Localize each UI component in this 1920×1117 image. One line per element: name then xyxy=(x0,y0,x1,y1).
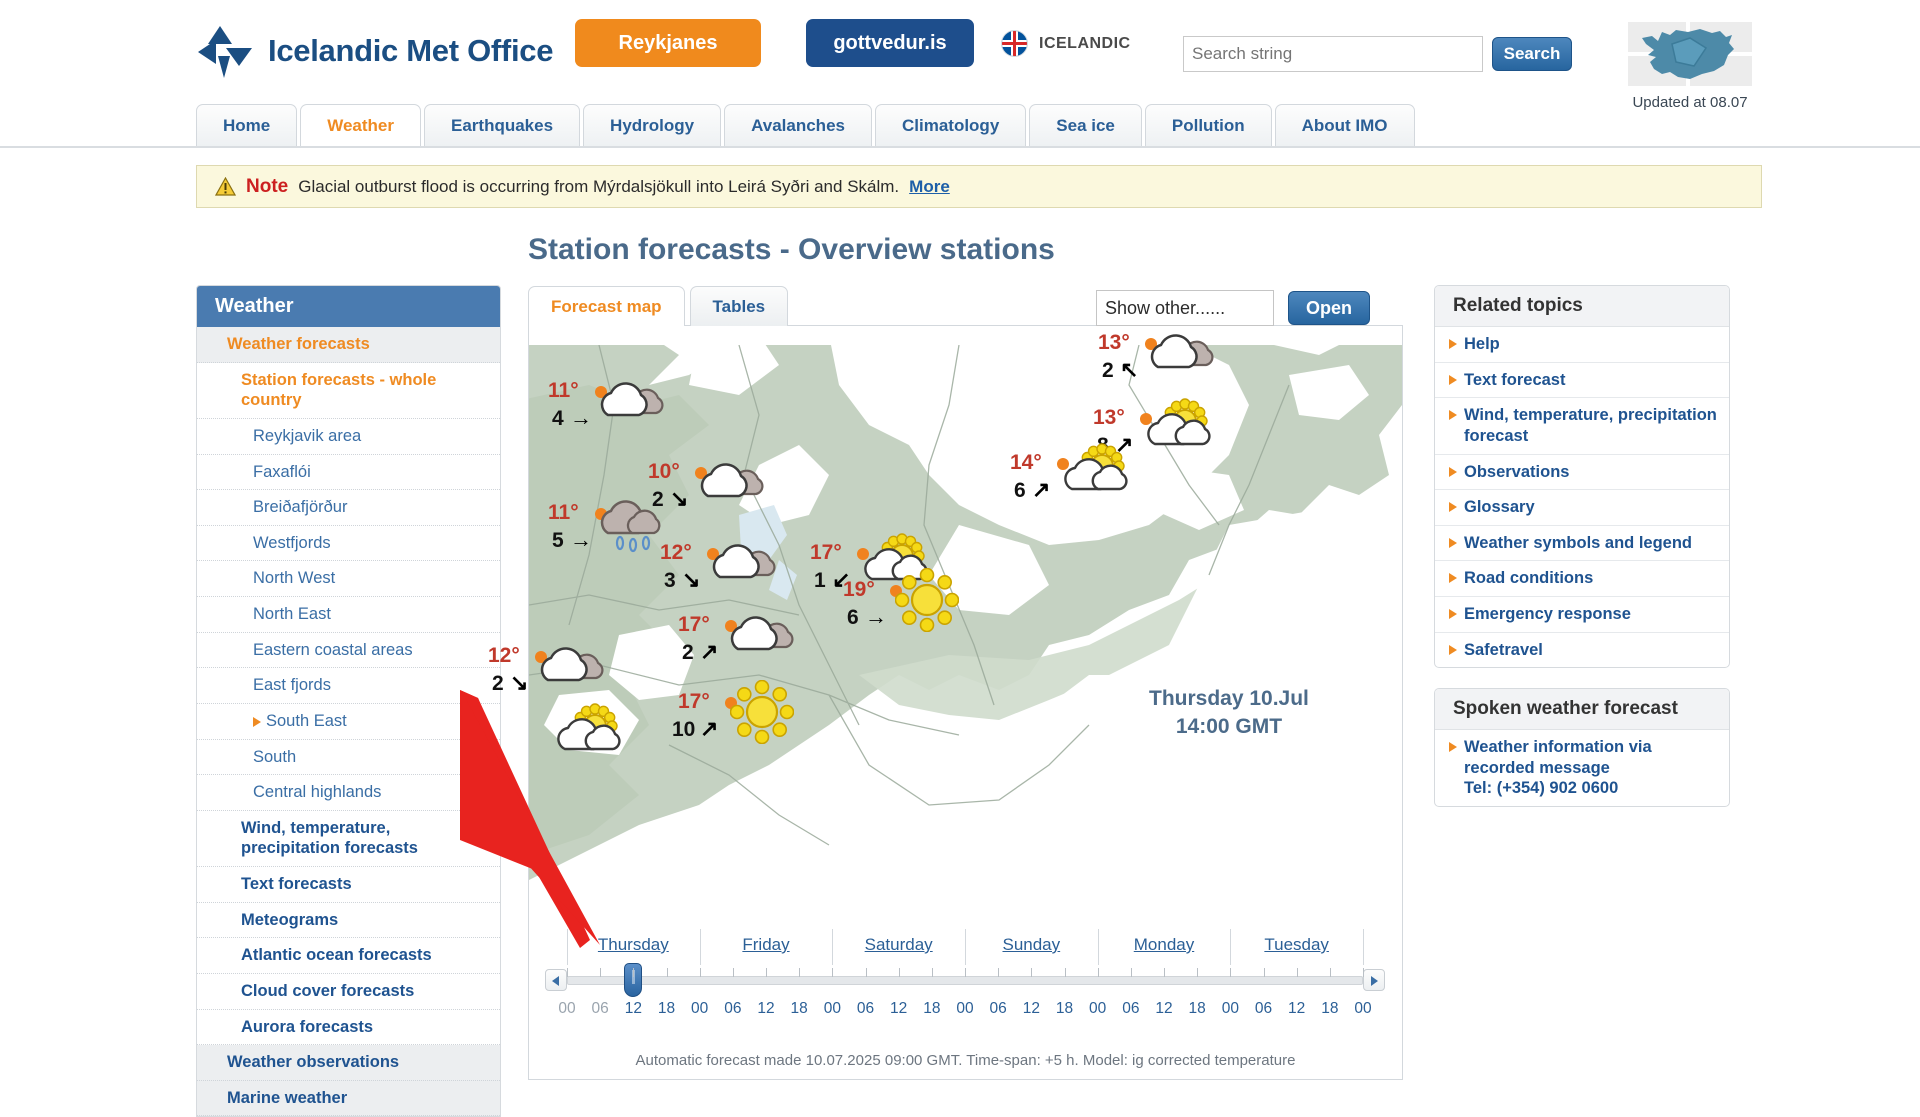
timeline-day-separator xyxy=(1363,929,1364,965)
station-wind-direction-arrow-icon: ↘ xyxy=(682,569,700,591)
gottvedur-button[interactable]: gottvedur.is xyxy=(806,19,974,67)
main-navigation: HomeWeatherEarthquakesHydrologyAvalanche… xyxy=(0,104,1920,148)
related-item-emergency-response[interactable]: Emergency response xyxy=(1435,597,1729,633)
station-wind-speed: 10 xyxy=(672,718,695,742)
sidebar-item-meteograms[interactable]: Meteograms xyxy=(197,903,500,939)
station-wind-speed: 2 xyxy=(1102,359,1114,383)
page-title: Station forecasts - Overview stations xyxy=(528,233,1055,267)
timeline-hour[interactable]: 00 xyxy=(1351,1000,1375,1018)
sidebar-item-label: Westfjords xyxy=(253,533,331,554)
timeline-tick xyxy=(1131,968,1132,977)
timeline-hour[interactable]: 00 xyxy=(555,1000,579,1018)
chevron-right-icon xyxy=(1449,339,1457,349)
sidebar-item-label: North East xyxy=(253,604,331,625)
timeline-day-tuesday[interactable]: Tuesday xyxy=(1237,935,1357,955)
timeline-tick xyxy=(899,968,900,977)
sidebar-item-label: Faxaflói xyxy=(253,462,311,483)
slider-next-button[interactable] xyxy=(1363,969,1385,991)
station-wind-direction-arrow-icon: ↘ xyxy=(670,488,688,510)
timeline-hour[interactable]: 00 xyxy=(688,1000,712,1018)
timeline-hour[interactable]: 12 xyxy=(754,1000,778,1018)
sidebar-item-label: Weather forecasts xyxy=(227,334,370,355)
timeline-tick xyxy=(1230,968,1231,977)
timeline-day-saturday[interactable]: Saturday xyxy=(839,935,959,955)
timeline-hour[interactable]: 18 xyxy=(1318,1000,1342,1018)
station-wind-direction-arrow-icon: → xyxy=(570,529,592,551)
related-topics-box: Related topics HelpText forecastWind, te… xyxy=(1434,285,1730,668)
timeline-day-sunday[interactable]: Sunday xyxy=(971,935,1091,955)
related-item-label: Text forecast xyxy=(1464,370,1565,391)
sidebar-item-south[interactable]: South xyxy=(197,740,500,776)
station-wind-speed: 1 xyxy=(814,569,826,593)
related-item-road-conditions[interactable]: Road conditions xyxy=(1435,561,1729,597)
chevron-right-icon xyxy=(1449,410,1457,420)
sidebar-item-east-fjords[interactable]: East fjords xyxy=(197,668,500,704)
tab-tables[interactable]: Tables xyxy=(690,286,789,326)
related-item-weather-information-via-recorded-message[interactable]: Weather information via recorded message… xyxy=(1435,730,1729,806)
timeline-hour[interactable]: 12 xyxy=(1152,1000,1176,1018)
sidebar-item-north-east[interactable]: North East xyxy=(197,597,500,633)
timeline-tick xyxy=(733,968,734,977)
chevron-right-icon xyxy=(1449,502,1457,512)
timeline-hour[interactable]: 18 xyxy=(1053,1000,1077,1018)
map-date-line1: Thursday 10.Jul xyxy=(1149,685,1309,713)
sidebar-item-marine-weather[interactable]: Marine weather xyxy=(197,1081,500,1117)
nav-tab-sea-ice[interactable]: Sea ice xyxy=(1029,104,1142,146)
iceland-map-icon[interactable] xyxy=(1628,22,1752,86)
station-wind-speed: 2 xyxy=(682,641,694,665)
forecast-map[interactable]: Thursday 10.Jul 14:00 GMT xyxy=(529,345,1402,930)
timeline-tick xyxy=(1363,968,1364,977)
sidebar-item-label: Cloud cover forecasts xyxy=(241,981,414,1002)
timeline-hour[interactable]: 00 xyxy=(953,1000,977,1018)
related-item-label: Road conditions xyxy=(1464,568,1593,589)
chevron-right-icon xyxy=(1449,573,1457,583)
timeline-tick xyxy=(667,968,668,977)
nav-tab-weather[interactable]: Weather xyxy=(300,104,421,146)
timeline-hour[interactable]: 06 xyxy=(588,1000,612,1018)
sidebar-item-faxafl-i[interactable]: Faxaflói xyxy=(197,455,500,491)
weather-symbol-sun-cloud-icon xyxy=(1062,441,1138,502)
chevron-right-icon xyxy=(1449,609,1457,619)
sidebar-item-brei-afj-r-ur[interactable]: Breiðafjörður xyxy=(197,490,500,526)
weather-symbol-partly-cloudy-icon xyxy=(600,369,676,426)
timeline-hour[interactable]: 06 xyxy=(1252,1000,1276,1018)
station-wind-direction-arrow-icon: ↖ xyxy=(1120,359,1138,381)
nav-tab-label: Pollution xyxy=(1172,116,1245,136)
related-item-glossary[interactable]: Glossary xyxy=(1435,490,1729,526)
related-item-label: Wind, temperature, precipitation forecas… xyxy=(1464,405,1717,446)
content-tabs: Forecast mapTables xyxy=(528,286,788,326)
related-item-label: Weather information via recorded message… xyxy=(1464,737,1717,799)
related-item-label: Observations xyxy=(1464,462,1569,483)
spoken-forecast-title: Spoken weather forecast xyxy=(1435,689,1729,730)
nav-tab-earthquakes[interactable]: Earthquakes xyxy=(424,104,580,146)
chevron-right-icon xyxy=(1449,538,1457,548)
sidebar-item-label: Meteograms xyxy=(241,910,338,931)
related-item-label: Emergency response xyxy=(1464,604,1631,625)
timeline-hour[interactable]: 06 xyxy=(986,1000,1010,1018)
sidebar-item-weather-observations[interactable]: Weather observations xyxy=(197,1045,500,1081)
timeline-tick xyxy=(1264,968,1265,977)
related-item-label: Safetravel xyxy=(1464,640,1543,661)
station-wind-speed: 2 xyxy=(492,672,504,696)
language-switcher[interactable]: ICELANDIC xyxy=(1001,30,1131,57)
nav-tab-hydrology[interactable]: Hydrology xyxy=(583,104,721,146)
sidebar-item-westfjords[interactable]: Westfjords xyxy=(197,526,500,562)
timeline-day-thursday[interactable]: Thursday xyxy=(573,935,693,955)
timeline-hour[interactable]: 00 xyxy=(1086,1000,1110,1018)
timeline-day-separator xyxy=(1230,929,1231,965)
timeline-hour[interactable]: 18 xyxy=(655,1000,679,1018)
nav-tab-label: About IMO xyxy=(1302,116,1388,136)
related-item-help[interactable]: Help xyxy=(1435,327,1729,363)
tab-label: Tables xyxy=(713,297,766,317)
nav-tab-label: Home xyxy=(223,116,270,136)
note-label: Note xyxy=(246,176,288,198)
map-date-line2: 14:00 GMT xyxy=(1149,713,1309,741)
open-button[interactable]: Open xyxy=(1288,291,1370,325)
timeline-day-monday[interactable]: Monday xyxy=(1104,935,1224,955)
related-item-weather-symbols-and-legend[interactable]: Weather symbols and legend xyxy=(1435,526,1729,562)
sidebar-item-cloud-cover-forecasts[interactable]: Cloud cover forecasts xyxy=(197,974,500,1010)
search-button[interactable]: Search xyxy=(1492,37,1572,71)
station-wind-speed: 4 xyxy=(552,407,564,431)
sidebar-item-label: Text forecasts xyxy=(241,874,352,895)
station-wind-speed: 6 xyxy=(1014,479,1026,503)
timeline-tick xyxy=(600,968,601,977)
weather-symbol-partly-cloudy-icon xyxy=(712,531,788,588)
nav-tab-label: Weather xyxy=(327,116,394,136)
sidebar-item-station-forecasts-whole-country[interactable]: Station forecasts - whole country xyxy=(197,363,500,419)
nav-tab-label: Climatology xyxy=(902,116,999,136)
station-temperature: 11° xyxy=(548,501,579,525)
sidebar-item-atlantic-ocean-forecasts[interactable]: Atlantic ocean forecasts xyxy=(197,938,500,974)
iceland-flag-icon xyxy=(1001,30,1028,57)
timeline-tick xyxy=(799,968,800,977)
sidebar-item-wind-temperature-precipitation-forecasts[interactable]: Wind, temperature, precipitation forecas… xyxy=(197,811,500,867)
sidebar-item-north-west[interactable]: North West xyxy=(197,561,500,597)
show-other-controls: Show other...... Open xyxy=(1096,290,1370,326)
site-title: Icelandic Met Office xyxy=(268,33,553,69)
timeline-hour[interactable]: 00 xyxy=(820,1000,844,1018)
sidebar-item-label: Breiðafjörður xyxy=(253,497,347,518)
timeline-hour[interactable]: 12 xyxy=(621,1000,645,1018)
map-valid-time: Thursday 10.Jul 14:00 GMT xyxy=(1149,685,1309,742)
timeline-tick xyxy=(1197,968,1198,977)
timeline-tick xyxy=(567,968,568,977)
note-text: Glacial outburst flood is occurring from… xyxy=(298,177,899,197)
station-wind-speed: 2 xyxy=(652,488,664,512)
station-temperature: 17° xyxy=(678,690,710,714)
sidebar-item-label: Atlantic ocean forecasts xyxy=(241,945,432,966)
station-temperature: 14° xyxy=(1010,451,1042,475)
sidebar-item-weather-forecasts[interactable]: Weather forecasts xyxy=(197,327,500,363)
nav-tab-label: Sea ice xyxy=(1056,116,1115,136)
weather-symbol-sunny-icon xyxy=(730,680,794,749)
weather-symbol-sun-cloud-icon xyxy=(1145,396,1221,457)
timeline-tick xyxy=(1031,968,1032,977)
top-header: Icelandic Met Office Reykjanes gottvedur… xyxy=(0,0,1920,108)
station-temperature: 13° xyxy=(1093,406,1125,430)
imo-triangles-logo-icon xyxy=(196,22,256,80)
chevron-right-icon xyxy=(1449,742,1457,752)
nav-tab-about-imo[interactable]: About IMO xyxy=(1275,104,1415,146)
timeline-tick xyxy=(965,968,966,977)
nav-tab-home[interactable]: Home xyxy=(196,104,297,146)
station-temperature: 17° xyxy=(810,541,842,565)
related-item-observations[interactable]: Observations xyxy=(1435,455,1729,491)
sidebar-item-label: Aurora forecasts xyxy=(241,1017,373,1038)
related-item-label: Weather symbols and legend xyxy=(1464,533,1692,554)
station-temperature: 19° xyxy=(843,578,875,602)
timeline-tick xyxy=(998,968,999,977)
timeline-day-separator xyxy=(567,929,568,965)
timeline-day-separator xyxy=(832,929,833,965)
chevron-right-icon xyxy=(253,717,261,727)
station-wind-direction-arrow-icon: ↘ xyxy=(510,672,528,694)
chevron-right-icon xyxy=(1449,375,1457,385)
left-sidebar: Weather Weather forecastsStation forecas… xyxy=(196,285,501,1117)
station-wind-speed: 6 xyxy=(847,606,859,630)
sidebar-item-label: Weather observations xyxy=(227,1052,399,1073)
reykjanes-button[interactable]: Reykjanes xyxy=(575,19,761,67)
timeline-hour[interactable]: 06 xyxy=(1119,1000,1143,1018)
timeline-tick xyxy=(866,968,867,977)
timeline-tick xyxy=(700,968,701,977)
timeline-hour[interactable]: 12 xyxy=(1285,1000,1309,1018)
sidebar-item-label: South East xyxy=(266,711,347,732)
related-item-wind-temperature-precipitation-forecast[interactable]: Wind, temperature, precipitation forecas… xyxy=(1435,398,1729,454)
timeline-day-separator xyxy=(1098,929,1099,965)
nav-tab-label: Earthquakes xyxy=(451,116,553,136)
station-temperature: 13° xyxy=(1098,331,1130,355)
related-item-label: Help xyxy=(1464,334,1500,355)
nav-tab-climatology[interactable]: Climatology xyxy=(875,104,1026,146)
sidebar-item-eastern-coastal-areas[interactable]: Eastern coastal areas xyxy=(197,633,500,669)
timeline-hour[interactable]: 06 xyxy=(721,1000,745,1018)
weather-symbol-sunny-icon xyxy=(895,568,959,637)
timeline-hour[interactable]: 18 xyxy=(920,1000,944,1018)
station-wind-direction-arrow-icon: → xyxy=(865,606,887,628)
time-slider: ThursdayFridaySaturdaySundayMondayTuesda… xyxy=(545,935,1385,1024)
station-wind-direction-arrow-icon: → xyxy=(570,407,592,429)
timeline-tick xyxy=(1330,968,1331,977)
sidebar-item-label: Marine weather xyxy=(227,1088,347,1109)
nav-tab-label: Hydrology xyxy=(610,116,694,136)
timeline-tick xyxy=(1065,968,1066,977)
weather-symbol-partly-cloudy-icon xyxy=(1150,321,1226,378)
timeline-tick xyxy=(1297,968,1298,977)
sidebar-title: Weather xyxy=(197,286,500,327)
timeline-day-separator xyxy=(700,929,701,965)
chevron-right-icon xyxy=(1449,467,1457,477)
site-logo[interactable]: Icelandic Met Office xyxy=(196,22,553,80)
language-label: ICELANDIC xyxy=(1039,35,1131,53)
tab-forecast-map[interactable]: Forecast map xyxy=(528,286,685,326)
sidebar-item-label: Station forecasts - whole country xyxy=(241,370,484,411)
timeline-hour[interactable]: 18 xyxy=(787,1000,811,1018)
sidebar-item-central-highlands[interactable]: Central highlands xyxy=(197,775,500,811)
timeline-hour[interactable]: 12 xyxy=(887,1000,911,1018)
station-temperature: 17° xyxy=(678,613,710,637)
timeline-tick xyxy=(1164,968,1165,977)
spoken-forecast-box: Spoken weather forecast Weather informat… xyxy=(1434,688,1730,807)
station-wind-direction-arrow-icon: ↗ xyxy=(700,641,718,663)
related-item-text-forecast[interactable]: Text forecast xyxy=(1435,363,1729,399)
timeline-tick xyxy=(832,968,833,977)
weather-symbol-partly-cloudy-icon xyxy=(730,603,806,660)
timeline-day-separator xyxy=(965,929,966,965)
related-item-safetravel[interactable]: Safetravel xyxy=(1435,633,1729,668)
timeline-hour[interactable]: 12 xyxy=(1019,1000,1043,1018)
related-item-label: Glossary xyxy=(1464,497,1535,518)
station-temperature: 11° xyxy=(548,379,579,403)
slider-prev-button[interactable] xyxy=(545,969,567,991)
chevron-right-icon xyxy=(1449,645,1457,655)
weather-symbol-sun-cloud-icon xyxy=(555,701,631,762)
sidebar-item-text-forecasts[interactable]: Text forecasts xyxy=(197,867,500,903)
warning-triangle-icon xyxy=(215,177,236,196)
station-wind-direction-arrow-icon: ↗ xyxy=(1032,479,1050,501)
sidebar-item-aurora-forecasts[interactable]: Aurora forecasts xyxy=(197,1010,500,1046)
sidebar-item-south-east[interactable]: South East xyxy=(197,704,500,740)
station-temperature: 12° xyxy=(660,541,692,565)
search-input[interactable] xyxy=(1183,36,1483,72)
timeline-tick xyxy=(633,968,634,977)
nav-tab-label: Avalanches xyxy=(751,116,845,136)
timeline-tick xyxy=(932,968,933,977)
station-wind-speed: 3 xyxy=(664,569,676,593)
timeline-hour[interactable]: 18 xyxy=(1185,1000,1209,1018)
sidebar-item-label: East fjords xyxy=(253,675,331,696)
station-wind-direction-arrow-icon: ↗ xyxy=(700,718,718,740)
sidebar-item-label: Wind, temperature, precipitation forecas… xyxy=(241,818,480,859)
related-topics-title: Related topics xyxy=(1435,286,1729,327)
map-footnote: Automatic forecast made 10.07.2025 09:00… xyxy=(528,1052,1403,1069)
tab-label: Forecast map xyxy=(551,297,662,317)
station-temperature: 10° xyxy=(648,460,680,484)
weather-symbol-partly-cloudy-icon xyxy=(540,634,616,691)
timeline-hour[interactable]: 00 xyxy=(1218,1000,1242,1018)
note-more-link[interactable]: More xyxy=(909,177,950,197)
nav-tab-pollution[interactable]: Pollution xyxy=(1145,104,1272,146)
sidebar-item-label: South xyxy=(253,747,296,768)
timeline-tick xyxy=(1098,968,1099,977)
timeline-tick xyxy=(766,968,767,977)
station-temperature: 12° xyxy=(488,644,520,668)
timeline-day-friday[interactable]: Friday xyxy=(706,935,826,955)
note-banner: Note Glacial outburst flood is occurring… xyxy=(196,165,1762,208)
sidebar-item-label: Central highlands xyxy=(253,782,381,803)
sidebar-item-label: Reykjavik area xyxy=(253,426,361,447)
nav-tab-avalanches[interactable]: Avalanches xyxy=(724,104,872,146)
slider-track[interactable] xyxy=(567,976,1363,985)
weather-symbol-partly-cloudy-icon xyxy=(700,450,776,507)
updated-status: Updated at 08.07 xyxy=(1620,22,1760,111)
sidebar-item-reykjavik-area[interactable]: Reykjavik area xyxy=(197,419,500,455)
station-wind-speed: 5 xyxy=(552,529,564,553)
timeline-hour[interactable]: 06 xyxy=(854,1000,878,1018)
sidebar-item-label: North West xyxy=(253,568,335,589)
sidebar-item-label: Eastern coastal areas xyxy=(253,640,413,661)
